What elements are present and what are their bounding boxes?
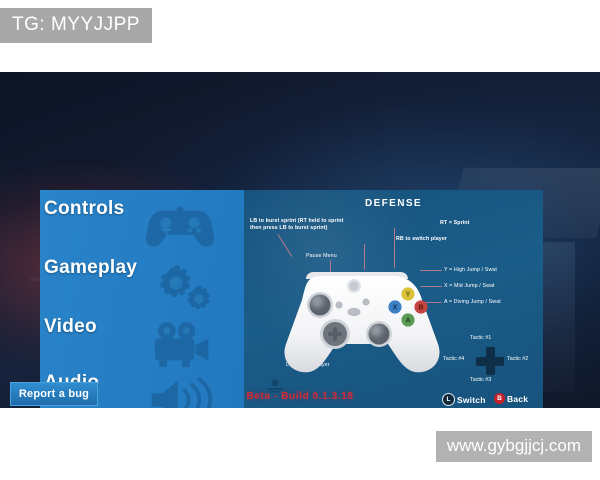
menu-item-video[interactable]: Video xyxy=(40,314,244,373)
dpad-arm-vertical xyxy=(486,347,495,375)
svg-text:Y: Y xyxy=(406,292,411,299)
gamepad-illustration: Y X B A xyxy=(262,262,452,380)
menu-item-label: Gameplay xyxy=(44,257,137,279)
tactic-label-right: Tactic #2 xyxy=(507,356,528,362)
tactic-label-down: Tactic #3 xyxy=(470,377,491,383)
gears-icon xyxy=(145,261,215,309)
controls-diagram: DEFENSE LB to burst sprint (RT held to s… xyxy=(244,190,543,408)
tactic-label-left: Tactic #4 xyxy=(443,356,464,362)
label-lb-burst-sprint: LB to burst sprint (RT held to sprint th… xyxy=(250,218,343,232)
label-rt-sprint: RT = Sprint xyxy=(440,220,470,227)
settings-menu: Controls Gameplay xyxy=(40,190,244,408)
gamepad-icon xyxy=(145,202,215,250)
movie-camera-icon xyxy=(145,320,215,368)
label-a-button: A = Diving Jump / Swat xyxy=(444,299,501,306)
tactic-label-up: Tactic #1 xyxy=(470,335,491,341)
tg-watermark-tag: TG: MYYJJPP xyxy=(0,8,152,43)
label-pause-menu: Pause Menu xyxy=(306,253,337,260)
menu-item-gameplay[interactable]: Gameplay xyxy=(40,255,244,314)
svg-text:X: X xyxy=(393,305,398,312)
svg-text:B: B xyxy=(418,305,423,312)
site-watermark: www.gybgjjcj.com xyxy=(436,431,592,462)
menu-item-label: Video xyxy=(44,316,97,338)
dpad-icon xyxy=(476,347,504,375)
video-frame[interactable]: Controls Gameplay xyxy=(0,72,600,408)
menu-item-label: Controls xyxy=(44,198,125,220)
label-rb-switch-player: RB to switch player xyxy=(396,236,447,243)
menu-item-controls[interactable]: Controls xyxy=(40,196,244,255)
diagram-title: DEFENSE xyxy=(244,198,543,209)
tactic-dpad-cluster: Tactic #1 Tactic #2 Tactic #3 Tactic #4 xyxy=(444,333,536,389)
build-version-text: Beta - Build 0.1.3.18 xyxy=(0,391,600,402)
svg-text:A: A xyxy=(405,318,410,325)
settings-panel: Controls Gameplay xyxy=(40,190,543,408)
